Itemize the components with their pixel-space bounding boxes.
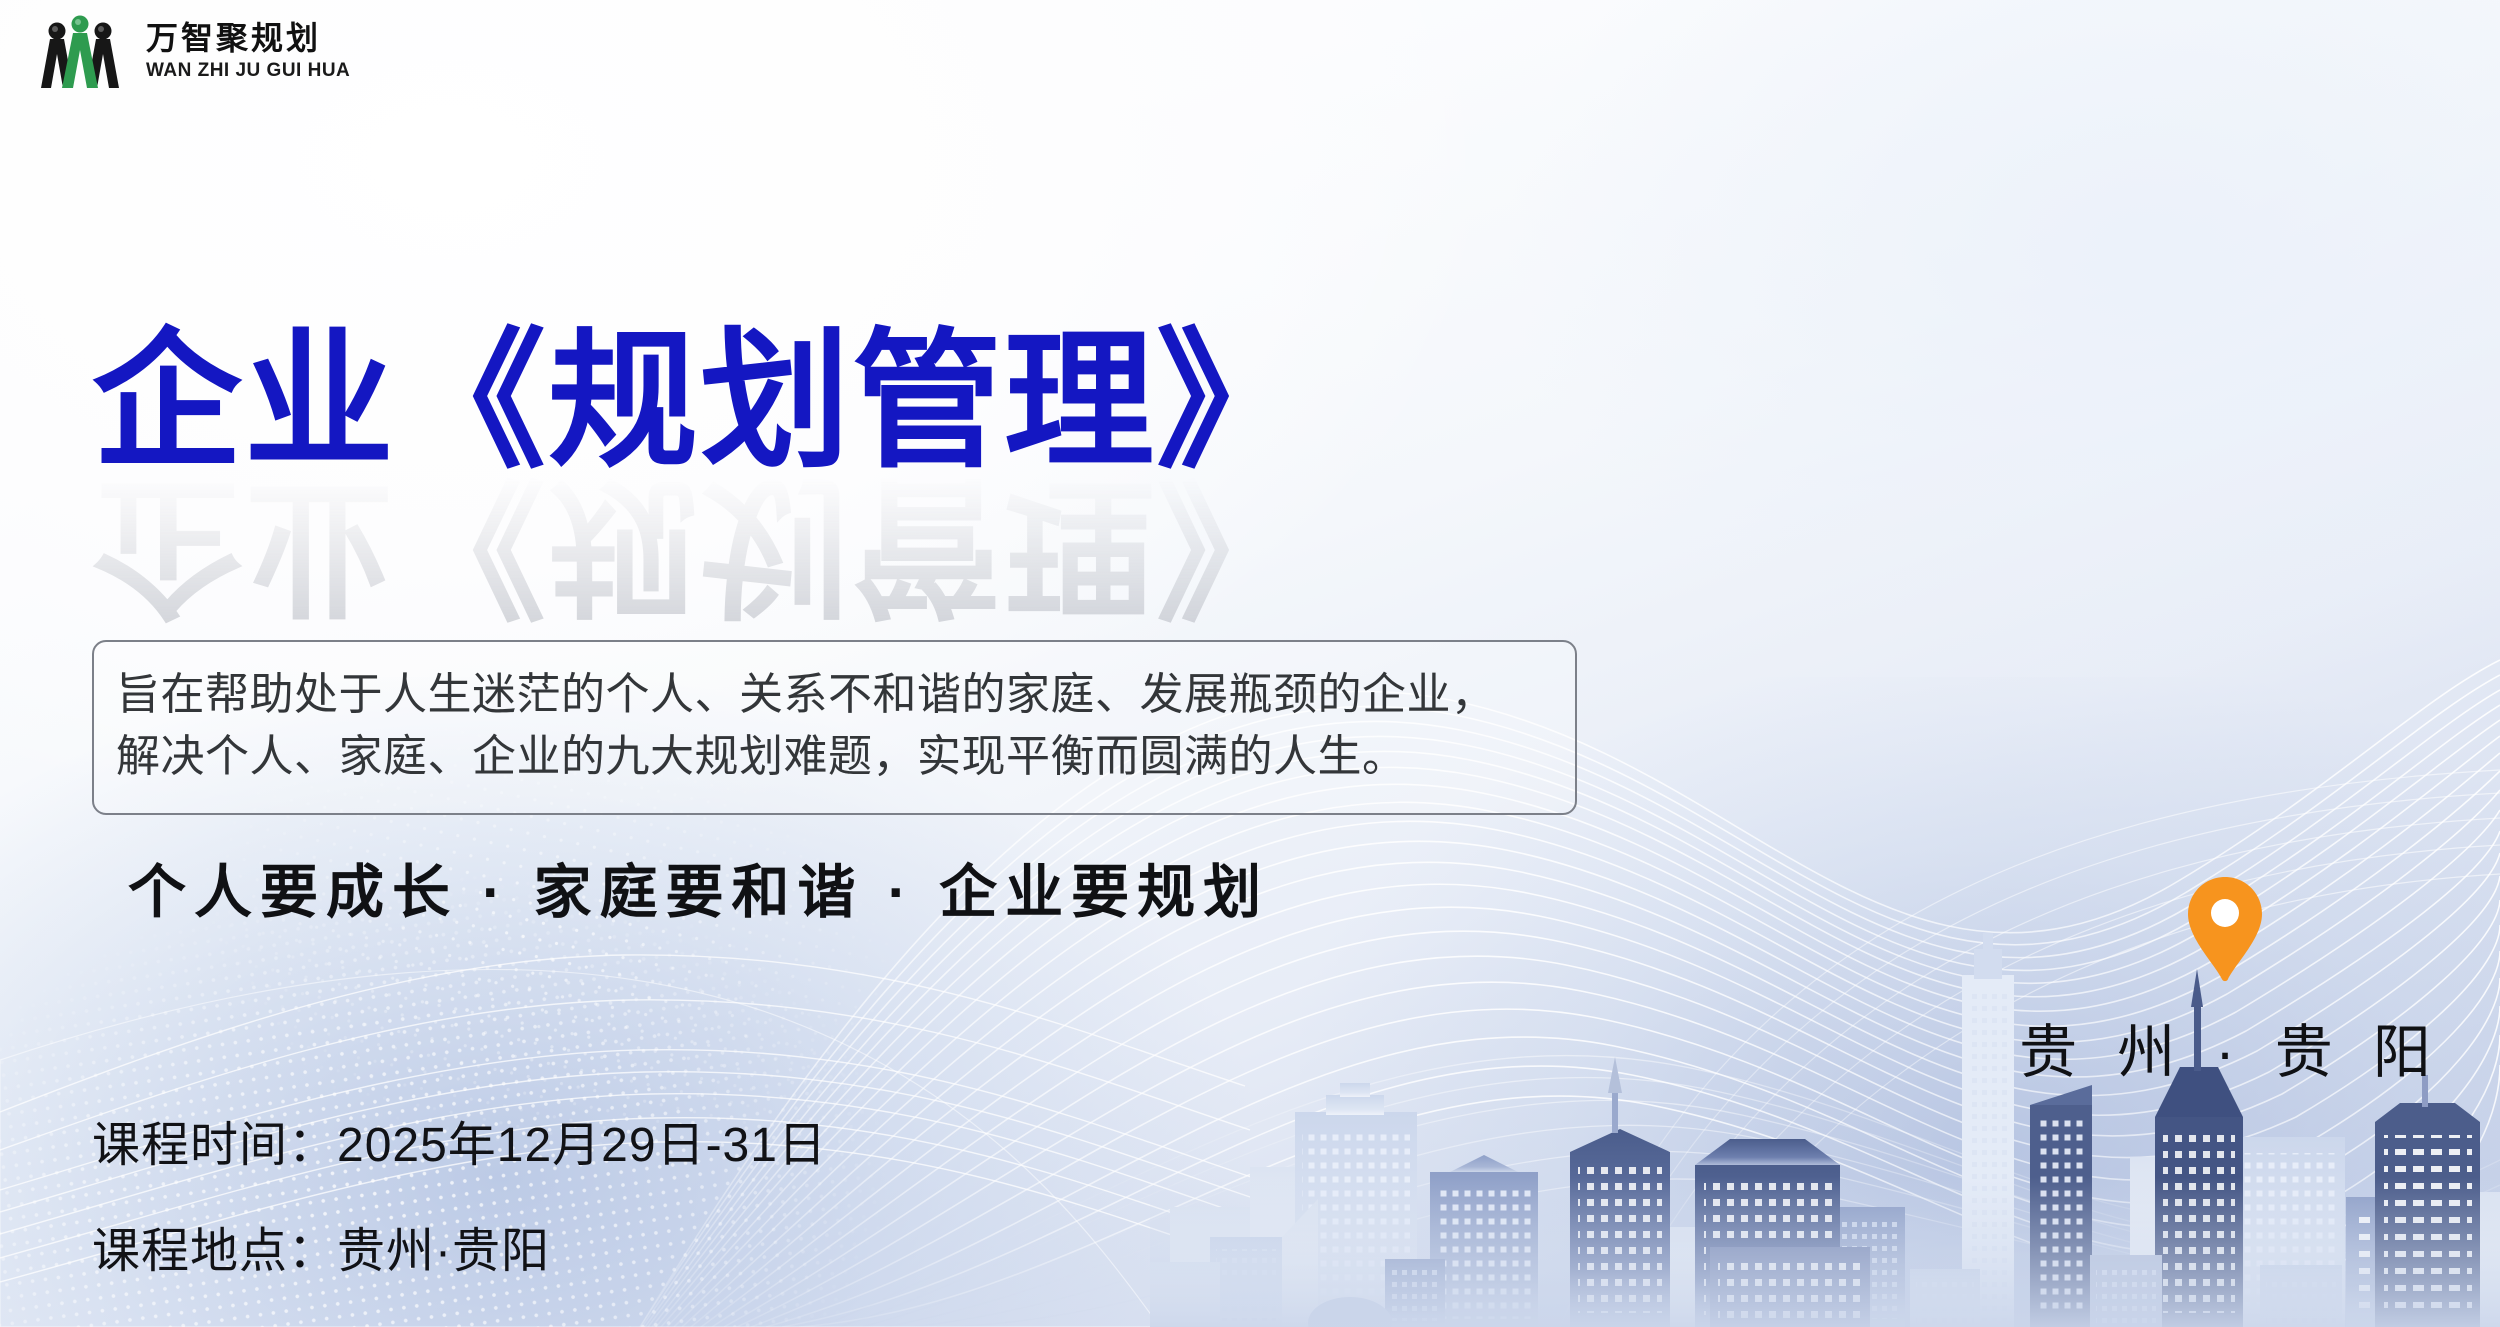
description-line-2: 解决个人、家庭、企业的九大规划难题，实现平衡而圆满的人生。 xyxy=(116,726,1549,788)
location-block: 贵 州 · 贵 阳 xyxy=(1955,875,2495,1089)
location-label: 贵 州 · 贵 阳 xyxy=(1955,1005,2495,1089)
brand-name-cn: 万智聚规划 xyxy=(146,22,350,54)
description-box: 旨在帮助处于人生迷茫的个人、关系不和谐的家庭、发展瓶颈的企业， 解决个人、家庭、… xyxy=(92,640,1577,815)
brand-name-en: WAN ZHI JU GUI HUA xyxy=(146,61,350,80)
brand-text: 万智聚规划 WAN ZHI JU GUI HUA xyxy=(146,22,350,80)
glow-top-right xyxy=(1500,0,2500,700)
poster-canvas: 万智聚规划 WAN ZHI JU GUI HUA 企业《规划管理》 企业《规划管… xyxy=(0,0,2500,1327)
course-info-block: 课程时间：2025年12月29日-31日 课程地点：贵州·贵阳 xyxy=(92,1105,827,1281)
title-zone: 企业《规划管理》 企业《规划管理》 xyxy=(92,320,1308,626)
description-line-1: 旨在帮助处于人生迷茫的个人、关系不和谐的家庭、发展瓶颈的企业， xyxy=(116,664,1549,726)
page-title-reflection: 企业《规划管理》 xyxy=(92,464,1308,626)
three-people-m-logo-icon xyxy=(30,12,130,90)
course-place-row: 课程地点：贵州·贵阳 xyxy=(92,1211,827,1281)
map-pin-icon xyxy=(2184,875,2266,983)
brand-logo[interactable]: 万智聚规划 WAN ZHI JU GUI HUA xyxy=(30,12,350,90)
slogan-text: 个人要成长 · 家庭要和谐 · 企业要规划 xyxy=(128,845,1269,929)
page-title: 企业《规划管理》 xyxy=(92,320,1308,482)
course-time-row: 课程时间：2025年12月29日-31日 xyxy=(92,1105,827,1175)
